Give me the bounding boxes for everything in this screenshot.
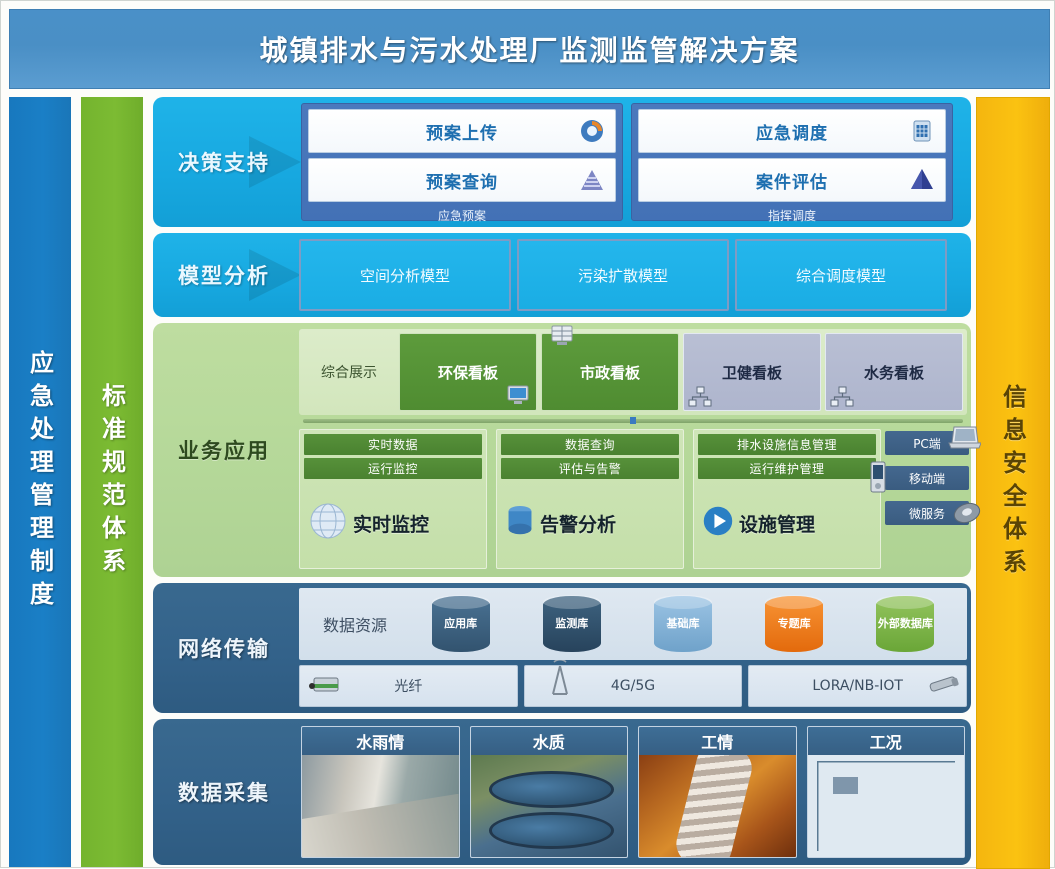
data-card-condition[interactable]: 工况	[807, 726, 966, 858]
band-data-acquisition-label: 数据采集	[153, 719, 295, 865]
calculator-icon	[909, 118, 935, 144]
data-card-rainfall-photo	[302, 755, 459, 857]
band-network-transmission-label: 网络传输	[153, 583, 295, 713]
card-plan-upload-label: 预案上传	[426, 119, 498, 144]
data-card-rainfall[interactable]: 水雨情	[301, 726, 460, 858]
card-emergency-dispatch[interactable]: 应急调度	[638, 109, 946, 153]
decision-group-command-dispatch: 应急调度 案件评估 指挥调度	[631, 103, 953, 221]
model-card-pollution[interactable]: 污染扩散模型	[517, 239, 729, 311]
antenna-icon	[549, 660, 571, 702]
network-icon	[688, 386, 712, 408]
database-list: 应用库 监测库 基础库 专题库 外部数据库	[405, 596, 961, 652]
business-column-facility: 排水设施信息管理 运行维护管理 设施管理	[693, 429, 881, 569]
band-business-application-label: 业务应用	[153, 323, 295, 577]
database-thematic[interactable]: 专题库	[765, 596, 823, 652]
device-endpoints: PC端 移动端 微服务	[885, 431, 969, 525]
data-card-water-quality-label: 水质	[471, 727, 628, 755]
data-card-engineering-photo	[639, 755, 796, 857]
business-divider-marker	[630, 417, 636, 424]
architecture-diagram: 城镇排水与污水处理厂监测监管解决方案 应急处理管理制度 标准规范体系 信息安全体…	[0, 0, 1055, 868]
tag-realtime-data[interactable]: 实时数据	[304, 434, 482, 455]
tag-operation-monitor[interactable]: 运行监控	[304, 458, 482, 479]
laptop-icon	[947, 424, 981, 453]
device-microservice-label: 微服务	[909, 505, 945, 522]
band-business-application: 业务应用 综合展示 环保看板 市政看板	[153, 323, 971, 577]
page-title: 城镇排水与污水处理厂监测监管解决方案	[259, 29, 799, 69]
data-resource-label: 数据资源	[305, 612, 405, 636]
tag-operation-maintenance[interactable]: 运行维护管理	[698, 458, 876, 479]
kanban-environment[interactable]: 环保看板	[399, 333, 537, 411]
model-card-spatial[interactable]: 空间分析模型	[299, 239, 511, 311]
band-model-analysis-label: 模型分析	[153, 233, 295, 317]
pipe-cellular[interactable]: 4G/5G	[524, 665, 743, 707]
decision-group-emergency-plan: 预案上传 预案查询 应急预案	[301, 103, 623, 221]
phone-icon	[868, 461, 888, 496]
decision-group-emergency-plan-footer: 应急预案	[308, 207, 616, 224]
sidebar-standard-system: 标准规范体系	[81, 97, 143, 867]
tag-data-query[interactable]: 数据查询	[501, 434, 679, 455]
comprehensive-display-label: 综合展示	[303, 333, 395, 411]
comprehensive-display-row: 综合展示 环保看板 市政看板	[299, 329, 967, 415]
pyramid-dark-icon	[909, 167, 935, 193]
card-plan-upload[interactable]: 预案上传	[308, 109, 616, 153]
database-basic[interactable]: 基础库	[654, 596, 712, 652]
band-decision-support-body: 预案上传 预案查询 应急预案 应急调度	[295, 97, 971, 227]
gear-icon	[952, 498, 982, 529]
monitor-icon	[506, 384, 530, 406]
sidebar-information-security-label: 信息安全体系	[996, 384, 1031, 582]
feature-realtime-monitoring-label: 实时监控	[353, 510, 429, 537]
feature-facility-management[interactable]: 设施管理	[698, 482, 876, 564]
kanban-municipal[interactable]: 市政看板	[541, 333, 679, 411]
card-plan-query[interactable]: 预案查询	[308, 158, 616, 202]
band-model-analysis: 模型分析 空间分析模型 污染扩散模型 综合调度模型	[153, 233, 971, 317]
card-emergency-dispatch-label: 应急调度	[756, 119, 828, 144]
card-plan-query-label: 预案查询	[426, 168, 498, 193]
kanban-water[interactable]: 水务看板	[825, 333, 963, 411]
page-title-bar: 城镇排水与污水处理厂监测监管解决方案	[9, 9, 1050, 89]
sidebar-standard-system-label: 标准规范体系	[95, 383, 130, 581]
device-mobile[interactable]: 移动端	[885, 466, 969, 490]
card-case-assessment-label: 案件评估	[756, 168, 828, 193]
model-card-dispatch[interactable]: 综合调度模型	[735, 239, 947, 311]
database-application[interactable]: 应用库	[432, 596, 490, 652]
kanban-municipal-label: 市政看板	[580, 362, 640, 383]
screen-icon	[550, 324, 574, 346]
band-business-application-body: 综合展示 环保看板 市政看板	[295, 323, 971, 577]
cycle-icon	[579, 118, 605, 144]
data-acquisition-cards: 水雨情 水质 工情 工况	[301, 726, 965, 858]
database-monitoring[interactable]: 监测库	[543, 596, 601, 652]
card-case-assessment[interactable]: 案件评估	[638, 158, 946, 202]
data-card-water-quality-photo	[471, 755, 628, 857]
pipe-lora-label: LORA/NB-IOT	[812, 678, 903, 694]
pipe-cellular-label: 4G/5G	[611, 678, 655, 694]
transmission-pipes: 光纤 4G/5G LORA/NB-IOT	[299, 665, 967, 707]
pipe-fiber[interactable]: 光纤	[299, 665, 518, 707]
business-column-alarm: 数据查询 评估与告警 告警分析	[496, 429, 684, 569]
sidebar-information-security: 信息安全体系	[976, 97, 1050, 869]
device-mobile-label: 移动端	[909, 470, 945, 487]
kanban-water-label: 水务看板	[864, 362, 924, 383]
sidebar-emergency-management: 应急处理管理制度	[9, 97, 71, 867]
data-card-condition-label: 工况	[808, 727, 965, 755]
play-icon	[702, 505, 734, 541]
data-resource-row: 数据资源 应用库 监测库 基础库 专题库 外部数据库	[299, 588, 967, 660]
tag-drainage-facility-info[interactable]: 排水设施信息管理	[698, 434, 876, 455]
feature-realtime-monitoring[interactable]: 实时监控	[304, 482, 482, 564]
kanban-health[interactable]: 卫健看板	[683, 333, 821, 411]
data-card-condition-photo	[808, 755, 965, 857]
decision-group-command-dispatch-footer: 指挥调度	[638, 207, 946, 224]
band-model-analysis-body: 空间分析模型 污染扩散模型 综合调度模型	[295, 233, 971, 317]
data-card-rainfall-label: 水雨情	[302, 727, 459, 755]
data-card-engineering[interactable]: 工情	[638, 726, 797, 858]
kanban-health-label: 卫健看板	[722, 362, 782, 383]
main-stack: 决策支持 预案上传 预案查询 应急预案	[153, 97, 971, 867]
network-icon	[830, 386, 854, 408]
data-card-water-quality[interactable]: 水质	[470, 726, 629, 858]
business-column-monitoring: 实时数据 运行监控 实时监控	[299, 429, 487, 569]
band-decision-support-label: 决策支持	[153, 97, 295, 227]
database-icon	[505, 504, 535, 542]
database-external[interactable]: 外部数据库	[876, 596, 934, 652]
band-data-acquisition-body: 水雨情 水质 工情 工况	[295, 719, 971, 865]
device-pc[interactable]: PC端	[885, 431, 969, 455]
business-columns: 实时数据 运行监控 实时监控 数据查询 评估与告警	[299, 429, 881, 569]
feature-facility-management-label: 设施管理	[739, 510, 815, 537]
feature-alarm-analysis-label: 告警分析	[540, 510, 616, 537]
fiber-icon	[308, 674, 342, 700]
globe-icon	[308, 501, 348, 545]
band-data-acquisition: 数据采集 水雨情 水质 工情 工况	[153, 719, 971, 865]
data-card-engineering-label: 工情	[639, 727, 796, 755]
sensor-icon	[926, 672, 962, 700]
pipe-lora[interactable]: LORA/NB-IOT	[748, 665, 967, 707]
feature-alarm-analysis[interactable]: 告警分析	[501, 482, 679, 564]
sidebar-emergency-management-label: 应急处理管理制度	[23, 350, 58, 614]
band-decision-support: 决策支持 预案上传 预案查询 应急预案	[153, 97, 971, 227]
tag-assessment-alarm[interactable]: 评估与告警	[501, 458, 679, 479]
pipe-fiber-label: 光纤	[394, 676, 422, 696]
kanban-environment-label: 环保看板	[438, 362, 498, 383]
pyramid-light-icon	[579, 167, 605, 193]
device-pc-label: PC端	[913, 435, 941, 452]
band-network-transmission-body: 数据资源 应用库 监测库 基础库 专题库 外部数据库 光纤	[295, 583, 971, 713]
device-microservice[interactable]: 微服务	[885, 501, 969, 525]
band-network-transmission: 网络传输 数据资源 应用库 监测库 基础库 专题库 外部数据库	[153, 583, 971, 713]
